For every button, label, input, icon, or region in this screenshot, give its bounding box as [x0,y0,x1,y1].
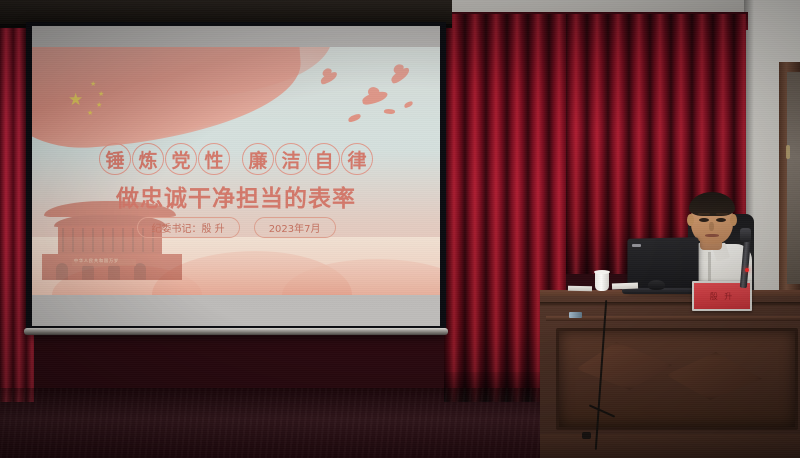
speaker-eye-left [699,218,709,222]
title-char-5: 廉 [242,143,274,175]
podium-upper-molding [546,316,800,321]
title-char-1: 锤 [99,143,131,175]
speaker-ear-right [730,214,737,226]
title-char-6: 洁 [275,143,307,175]
speaker-ear-left [687,214,694,226]
door-glass-panel [787,72,800,284]
presentation-slide: ★ ★ ★ ★ ★ [32,47,440,295]
speaker-eyebrow-right [716,213,728,215]
podium-label-sticker [569,312,582,318]
speaker-eyebrow-left [698,213,710,215]
nameplate-text: 殷 升 [710,291,735,302]
computer-mouse[interactable] [648,280,665,290]
speaker-nose [709,222,714,231]
podium-base-molding [540,434,800,458]
projector-screen: ★ ★ ★ ★ ★ [32,26,440,326]
slide-subtitle: 做忠诚干净担当的表率 [32,179,440,213]
podium-desktop-edge [540,302,800,306]
microphone-head [740,228,751,242]
slide-credits: 纪委书记：殷 升 2023年7月 [32,217,440,238]
microphone-led-indicator [745,268,749,272]
speaker-mouth [705,234,719,237]
presentation-room-photo: ★ ★ ★ ★ ★ [0,0,800,458]
presenter-pill: 纪委书记：殷 升 [137,217,240,238]
speaker-eye-right [716,218,726,222]
title-char-2: 炼 [132,143,164,175]
title-char-4: 性 [198,143,230,175]
door-handle [786,145,790,159]
title-char-3: 党 [165,143,197,175]
title-char-8: 律 [341,143,373,175]
screen-weight-bar [24,328,448,335]
documents-on-desk-left [568,286,592,291]
power-cable-plug [582,432,591,439]
laptop-logo-icon [632,244,641,247]
title-char-7: 自 [308,143,340,175]
date-pill: 2023年7月 [254,217,336,238]
paper-cup-rim [594,270,610,274]
slide-title: 锤 炼 党 性 廉 洁 自 律 [32,143,440,175]
documents-on-desk [612,283,638,290]
paper-cup [595,271,609,291]
